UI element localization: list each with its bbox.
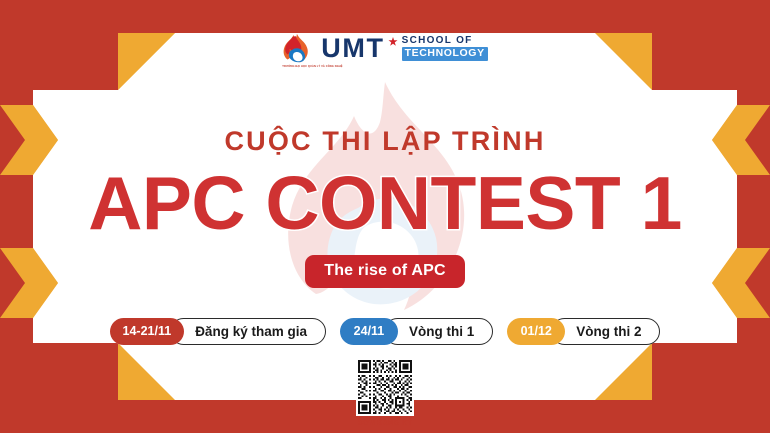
timeline-label-2: Vòng thi 1	[384, 318, 493, 345]
kicker-text: CUỘC THI LẬP TRÌNH	[0, 128, 770, 155]
timeline-date-1: 14-21/11	[110, 318, 185, 345]
brand-wordmark: UMT SCHOOL OF TECHNOLOGY	[321, 35, 487, 62]
timeline-date-2: 24/11	[340, 318, 398, 345]
umt-flame-logo-icon: TRƯỜNG ĐẠI HỌC QUẢN LÝ VÀ CÔNG NGHỆ	[282, 33, 312, 63]
qr-code-icon[interactable]	[356, 358, 414, 416]
timeline-item-round-2[interactable]: 01/12 Vòng thi 2	[507, 318, 660, 345]
timeline-label-3: Vòng thi 2	[551, 318, 660, 345]
school-line-2: TECHNOLOGY	[402, 47, 488, 61]
poster-canvas: TRƯỜNG ĐẠI HỌC QUẢN LÝ VÀ CÔNG NGHỆ UMT …	[0, 0, 770, 433]
qr-caption: ĐƠN ĐĂNG KÝ	[358, 420, 413, 427]
timeline-item-round-1[interactable]: 24/11 Vòng thi 1	[340, 318, 493, 345]
brand-name: UMT	[321, 35, 384, 62]
brand-logo: TRƯỜNG ĐẠI HỌC QUẢN LÝ VÀ CÔNG NGHỆ UMT …	[0, 33, 770, 63]
timeline-row: 14-21/11 Đăng ký tham gia 24/11 Vòng thi…	[0, 318, 770, 345]
headline-block: CUỘC THI LẬP TRÌNH APC CONTEST 1 The ris…	[0, 128, 770, 288]
timeline-label-1: Đăng ký tham gia	[170, 318, 326, 345]
timeline-item-registration[interactable]: 14-21/11 Đăng ký tham gia	[110, 318, 326, 345]
star-icon	[388, 35, 398, 61]
page-title: APC CONTEST 1	[0, 167, 770, 239]
logo-tagline: TRƯỜNG ĐẠI HỌC QUẢN LÝ VÀ CÔNG NGHỆ	[282, 65, 312, 68]
school-of-technology: SCHOOL OF TECHNOLOGY	[402, 36, 488, 61]
subtitle-badge: The rise of APC	[305, 255, 465, 288]
timeline-date-3: 01/12	[507, 318, 565, 345]
school-line-1: SCHOOL OF	[402, 36, 488, 46]
registration-qr-block[interactable]: ĐƠN ĐĂNG KÝ	[0, 358, 770, 427]
